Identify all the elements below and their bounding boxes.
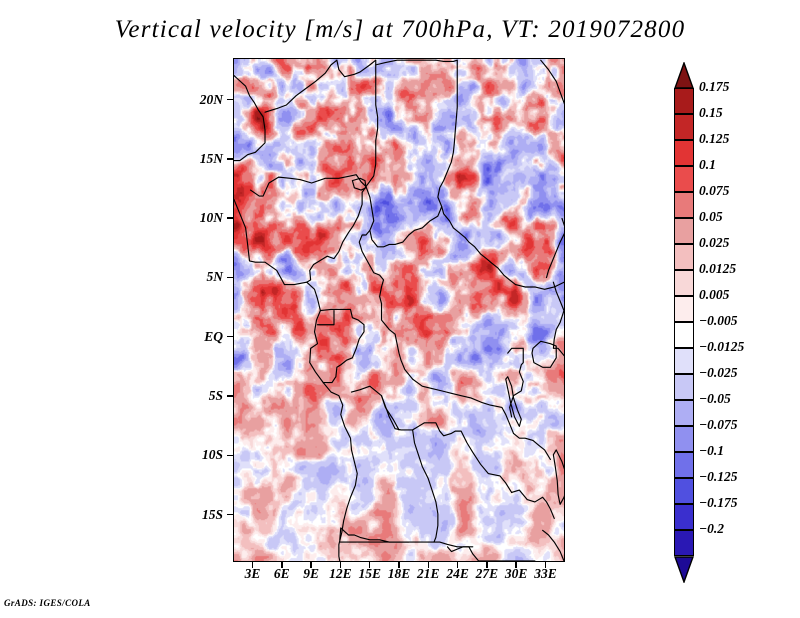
colorbar-tick-label: −0.075 bbox=[699, 417, 738, 433]
colorbar-tick-label: 0.05 bbox=[699, 209, 723, 225]
colorbar bbox=[674, 62, 694, 558]
colorbar-segment bbox=[674, 530, 694, 556]
lat-tick bbox=[227, 217, 233, 219]
lat-label: 15S bbox=[163, 507, 223, 523]
colorbar-tick-label: 0.125 bbox=[699, 131, 729, 147]
colorbar-segment bbox=[674, 218, 694, 244]
colorbar-arrow-high bbox=[674, 62, 694, 88]
lat-tick bbox=[227, 455, 233, 457]
lat-label: 5S bbox=[163, 388, 223, 404]
colorbar-arrow-low bbox=[674, 556, 694, 582]
lat-tick bbox=[227, 514, 233, 516]
lat-label: 15N bbox=[163, 151, 223, 167]
colorbar-tick-label: −0.1 bbox=[699, 443, 724, 459]
colorbar-segment bbox=[674, 192, 694, 218]
page-title: Vertical velocity [m/s] at 700hPa, VT: 2… bbox=[0, 16, 800, 44]
lat-label: 5N bbox=[163, 269, 223, 285]
colorbar-segment bbox=[674, 426, 694, 452]
colorbar-segment bbox=[674, 504, 694, 530]
colorbar-tick-label: 0.0125 bbox=[699, 261, 736, 277]
colorbar-tick-label: 0.005 bbox=[699, 287, 729, 303]
lat-tick bbox=[227, 158, 233, 160]
colorbar-tick-label: −0.025 bbox=[699, 365, 738, 381]
colorbar-tick-label: −0.175 bbox=[699, 495, 738, 511]
lat-tick bbox=[227, 277, 233, 279]
colorbar-tick-label: 0.1 bbox=[699, 157, 716, 173]
colorbar-tick-label: −0.125 bbox=[699, 469, 738, 485]
grads-credit: GrADS: IGES/COLA bbox=[4, 598, 91, 608]
colorbar-segment bbox=[674, 374, 694, 400]
colorbar-tick-label: 0.15 bbox=[699, 105, 723, 121]
lat-label: 20N bbox=[163, 92, 223, 108]
colorbar-tick-label: 0.075 bbox=[699, 183, 729, 199]
colorbar-tick-label: 0.025 bbox=[699, 235, 729, 251]
colorbar-segment bbox=[674, 478, 694, 504]
lat-label: 10N bbox=[163, 210, 223, 226]
colorbar-segment bbox=[674, 166, 694, 192]
map-plot-area bbox=[233, 58, 565, 562]
colorbar-tick-label: −0.05 bbox=[699, 391, 731, 407]
colorbar-tick-label: −0.0125 bbox=[699, 339, 744, 355]
colorbar-segment bbox=[674, 140, 694, 166]
colorbar-tick-label: −0.2 bbox=[699, 521, 724, 537]
country-borders-overlay bbox=[234, 59, 564, 561]
colorbar-tick-label: 0.175 bbox=[699, 79, 729, 95]
lat-tick bbox=[227, 99, 233, 101]
lat-label: 10S bbox=[163, 447, 223, 463]
colorbar-segment bbox=[674, 400, 694, 426]
colorbar-segment bbox=[674, 452, 694, 478]
lat-label: EQ bbox=[163, 329, 223, 345]
colorbar-segment bbox=[674, 296, 694, 322]
colorbar-segment bbox=[674, 322, 694, 348]
colorbar-tick-label: −0.005 bbox=[699, 313, 738, 329]
colorbar-segment bbox=[674, 270, 694, 296]
colorbar-segment bbox=[674, 348, 694, 374]
colorbar-segment bbox=[674, 88, 694, 114]
lat-tick bbox=[227, 395, 233, 397]
lat-tick bbox=[227, 336, 233, 338]
lon-label: 33E bbox=[525, 566, 565, 582]
colorbar-segment bbox=[674, 244, 694, 270]
colorbar-segment bbox=[674, 114, 694, 140]
